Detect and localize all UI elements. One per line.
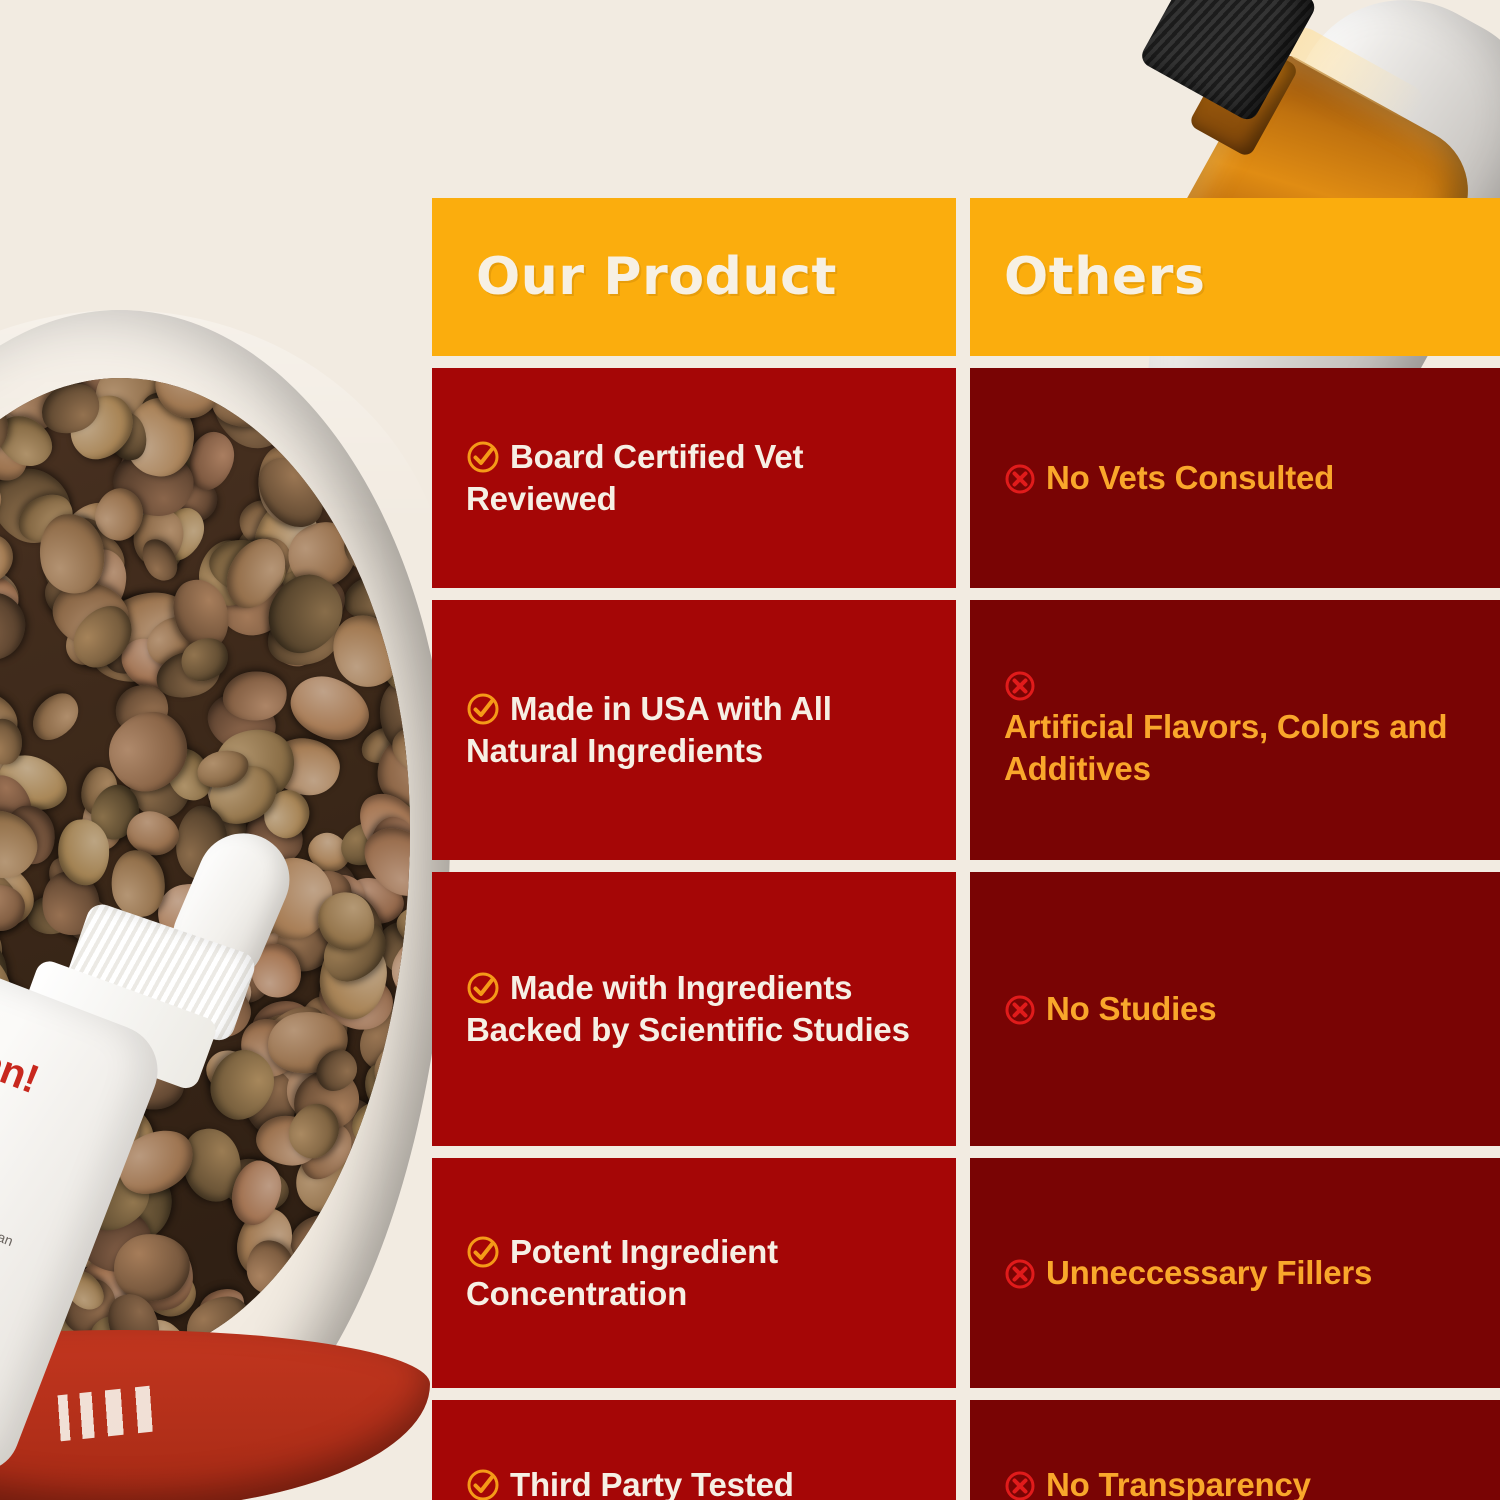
feature-text-others: No Studies bbox=[1004, 988, 1216, 1030]
row-cell-ours: Made with Ingredients Backed by Scientif… bbox=[432, 872, 956, 1146]
row-cell-ours: Made in USA with All Natural Ingredients bbox=[432, 600, 956, 860]
row-cell-others: Unneccessary Fillers bbox=[970, 1158, 1500, 1388]
comparison-table: Our Product Others Board Certified Vet R… bbox=[432, 198, 1500, 1500]
table-row: Made in USA with All Natural Ingredients… bbox=[432, 600, 1500, 860]
x-circle-icon bbox=[1004, 1258, 1036, 1290]
table-row: Board Certified Vet Reviewed No Vets Con… bbox=[432, 368, 1500, 588]
feature-label-ours: Board Certified Vet Reviewed bbox=[466, 438, 803, 517]
row-cell-ours: Potent Ingredient Concentration bbox=[432, 1158, 956, 1388]
row-cell-ours: Third Party Tested bbox=[432, 1400, 956, 1500]
check-circle-icon bbox=[466, 692, 500, 726]
row-cell-others: Artificial Flavors, Colors and Additives bbox=[970, 600, 1500, 860]
row-cell-others: No Vets Consulted bbox=[970, 368, 1500, 588]
header-label-others: Others bbox=[1004, 247, 1206, 307]
feature-text-ours: Third Party Tested bbox=[466, 1464, 794, 1500]
feature-label-others: Artificial Flavors, Colors and Additives bbox=[1004, 708, 1447, 787]
feature-label-ours: Third Party Tested bbox=[510, 1466, 794, 1500]
feature-label-ours: Made with Ingredients Backed by Scientif… bbox=[466, 969, 910, 1048]
row-cell-ours: Board Certified Vet Reviewed bbox=[432, 368, 956, 588]
row-cell-others: No Studies bbox=[970, 872, 1500, 1146]
dog-bowl-photo: Oh Norman! Calm the Down! Balanced Dogs … bbox=[0, 300, 460, 1500]
table-row: Potent Ingredient Concentration Unnecces… bbox=[432, 1158, 1500, 1388]
x-circle-icon bbox=[1004, 1470, 1036, 1500]
check-circle-icon bbox=[466, 440, 500, 474]
feature-label-ours: Potent Ingredient Concentration bbox=[466, 1233, 778, 1312]
feature-text-others: Unneccessary Fillers bbox=[1004, 1252, 1372, 1294]
table-row: Third Party Tested No Transparency bbox=[432, 1400, 1500, 1500]
infographic-canvas: Oh Norman! Calm the Down! Balanced Dogs … bbox=[0, 0, 1500, 1500]
feature-text-others: No Transparency bbox=[1004, 1464, 1311, 1500]
feature-label-others: No Transparency bbox=[1046, 1466, 1311, 1500]
header-cell-others: Others bbox=[970, 198, 1500, 356]
check-circle-icon bbox=[466, 971, 500, 1005]
feature-text-others: Artificial Flavors, Colors and Additives bbox=[1004, 670, 1492, 789]
feature-text-ours: Made in USA with All Natural Ingredients bbox=[466, 688, 926, 771]
feature-text-ours: Potent Ingredient Concentration bbox=[466, 1231, 926, 1314]
feature-label-ours: Made in USA with All Natural Ingredients bbox=[466, 690, 832, 769]
check-circle-icon bbox=[466, 1235, 500, 1269]
x-circle-icon bbox=[1004, 670, 1492, 702]
check-circle-icon bbox=[466, 1468, 500, 1500]
header-cell-our-product: Our Product bbox=[432, 198, 956, 356]
feature-text-ours: Made with Ingredients Backed by Scientif… bbox=[466, 967, 926, 1050]
x-circle-icon bbox=[1004, 463, 1036, 495]
row-cell-others: No Transparency bbox=[970, 1400, 1500, 1500]
feature-label-others: No Vets Consulted bbox=[1046, 459, 1334, 496]
header-label-our-product: Our Product bbox=[476, 247, 837, 307]
feature-text-others: No Vets Consulted bbox=[1004, 457, 1334, 499]
feature-label-others: No Studies bbox=[1046, 990, 1216, 1027]
table-row: Made with Ingredients Backed by Scientif… bbox=[432, 872, 1500, 1146]
x-circle-icon bbox=[1004, 994, 1036, 1026]
feature-text-ours: Board Certified Vet Reviewed bbox=[466, 436, 926, 519]
feature-label-others: Unneccessary Fillers bbox=[1046, 1254, 1372, 1291]
table-header-row: Our Product Others bbox=[432, 198, 1500, 356]
